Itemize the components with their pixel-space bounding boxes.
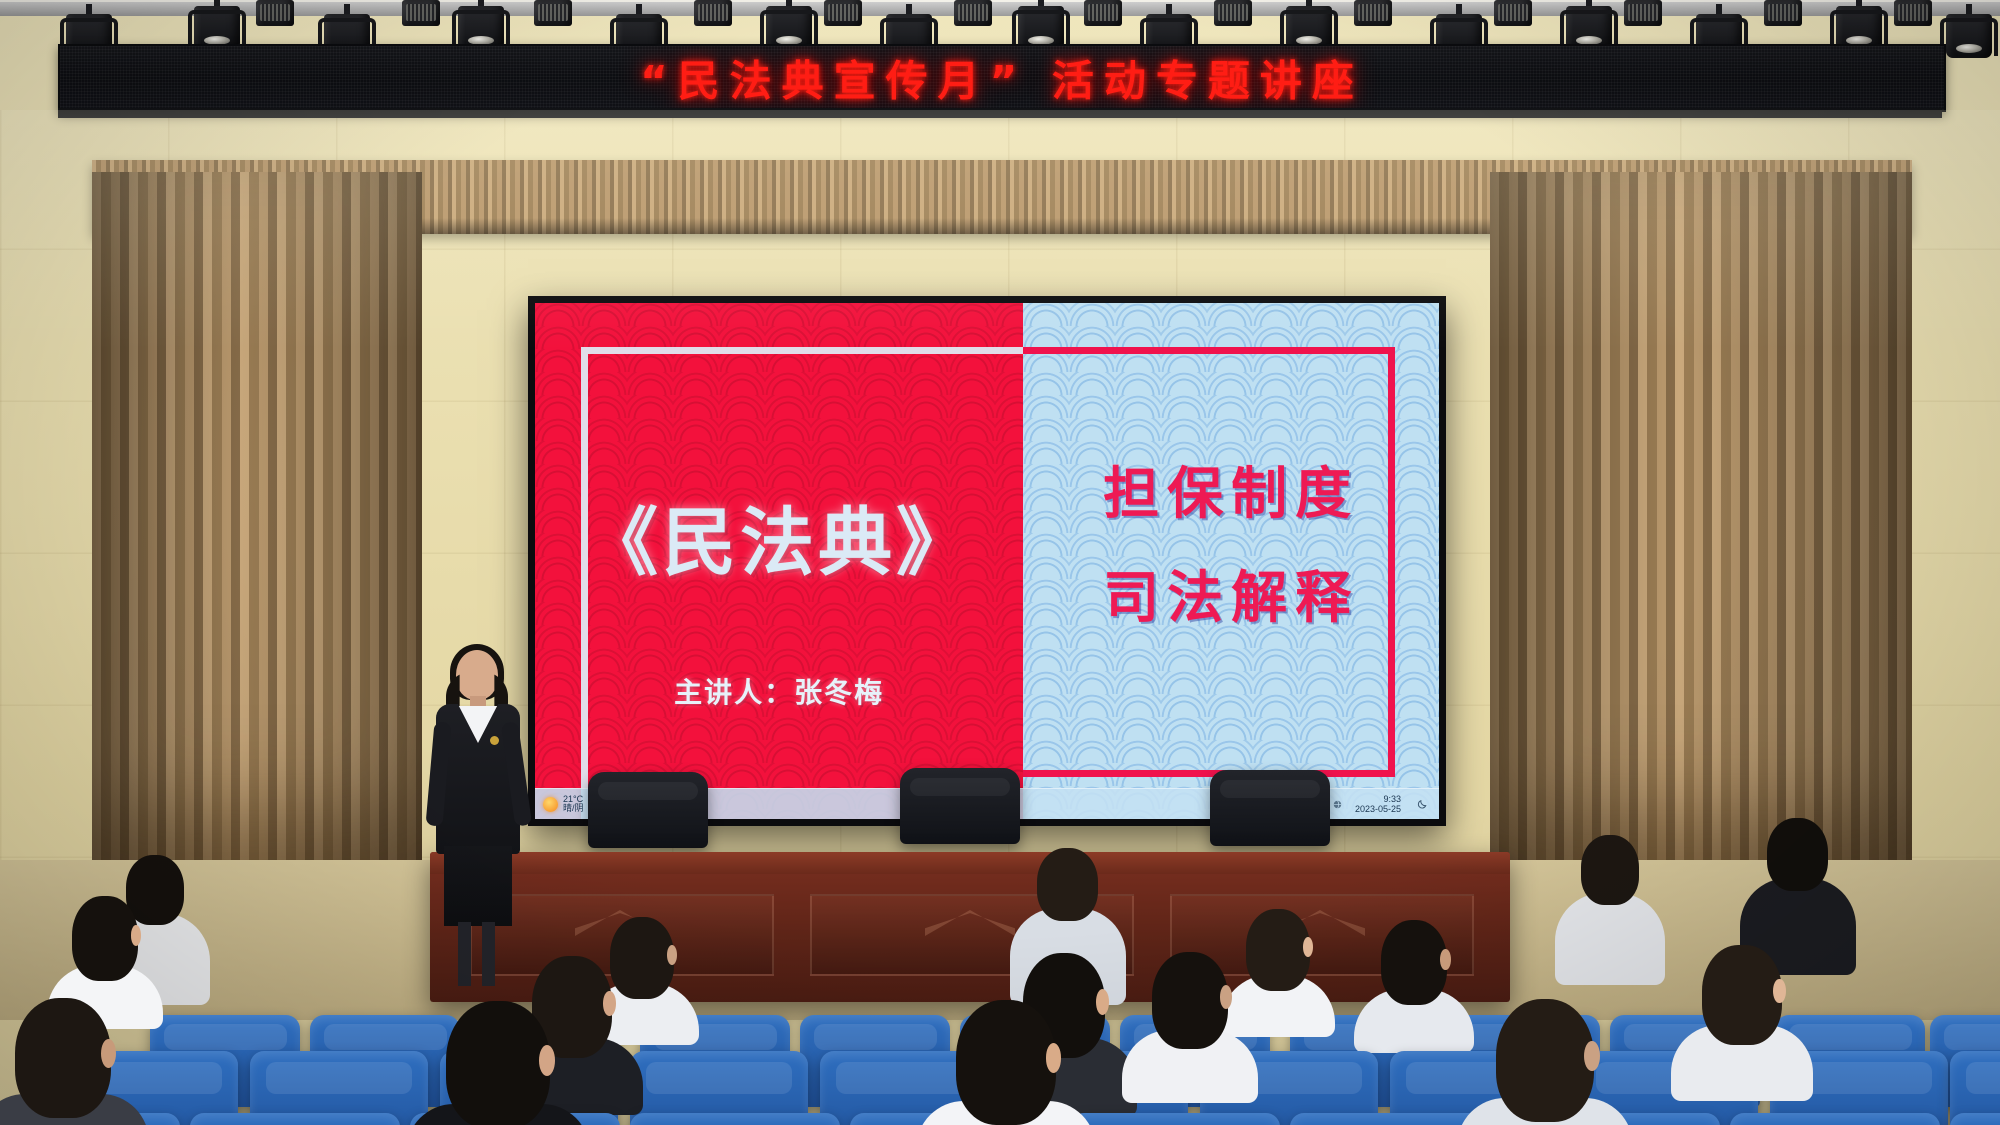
ceiling-light-7 (1080, 0, 1126, 40)
audience-person-10 (430, 985, 566, 1125)
person-head (1152, 952, 1228, 1049)
stage-light-15 (1940, 14, 1998, 80)
audience-person-12 (1480, 981, 1610, 1125)
audience-seat (1950, 1113, 2000, 1125)
person-head (1037, 848, 1098, 922)
audience-person-3 (1236, 877, 1320, 1037)
person-head (1767, 818, 1828, 892)
slide-subtitle-line1: 担保制度 (1023, 449, 1439, 530)
audience-person-4 (1370, 889, 1458, 1053)
ceiling-light-11 (1620, 0, 1666, 40)
audience-seat (190, 1113, 400, 1125)
ceiling-light-5 (820, 0, 866, 40)
led-banner: “民法典宣传月” 活动专题讲座 (58, 44, 1946, 112)
person-head (72, 896, 137, 981)
person-head (1496, 999, 1595, 1122)
ceiling-light-1 (252, 0, 298, 40)
ceiling-light-13 (1890, 0, 1936, 40)
ceiling-light-4 (690, 0, 736, 40)
person-head (956, 1000, 1056, 1125)
person-ear (101, 1039, 116, 1068)
person-head (446, 1001, 549, 1125)
person-ear (1773, 979, 1785, 1003)
person-head (15, 998, 111, 1118)
person-shoulders (1555, 893, 1665, 985)
person-head (1381, 920, 1448, 1005)
slide-subtitle-line2: 司法解释 (1023, 553, 1439, 634)
ceiling-light-12 (1760, 0, 1806, 40)
person-head (1581, 835, 1639, 905)
audience-person-9 (0, 979, 126, 1125)
audience-seat (1070, 1113, 1280, 1125)
person-ear (1440, 949, 1451, 970)
person-head (1702, 945, 1781, 1045)
lecture-hall-scene: “民法典宣传月” 活动专题讲座 《民法典》 主讲人：张冬梅 担保制度 司法解释 (0, 0, 2000, 1125)
person-ear (1303, 937, 1313, 957)
led-banner-base (58, 108, 1942, 118)
ceiling-light-10 (1490, 0, 1536, 40)
ceiling-light-3 (530, 0, 576, 40)
person-ear (667, 945, 677, 965)
audience-person-11 (940, 983, 1072, 1125)
ceiling-light-6 (950, 0, 996, 40)
audience-person-8 (1690, 919, 1794, 1101)
ceiling-light-9 (1350, 0, 1396, 40)
audience-seat (630, 1113, 840, 1125)
audience-seat (1730, 1113, 1940, 1125)
audience-area (0, 695, 2000, 1125)
audience-person-7 (1140, 925, 1240, 1103)
ceiling-light-2 (398, 0, 444, 40)
led-banner-text: “民法典宣传月” 活动专题讲座 (60, 48, 1944, 109)
audience-person-far-2 (1555, 835, 1665, 985)
ceiling-light-8 (1210, 0, 1256, 40)
person-ear (539, 1045, 555, 1076)
person-ear (1584, 1041, 1600, 1071)
person-ear (1220, 985, 1232, 1009)
presenter-head (456, 650, 498, 700)
person-ear (1046, 1043, 1062, 1073)
person-head (1246, 909, 1310, 991)
person-ear (131, 925, 141, 946)
person-ear (603, 991, 615, 1016)
slide-title: 《民法典》 (535, 483, 1023, 590)
person-ear (1096, 989, 1109, 1015)
